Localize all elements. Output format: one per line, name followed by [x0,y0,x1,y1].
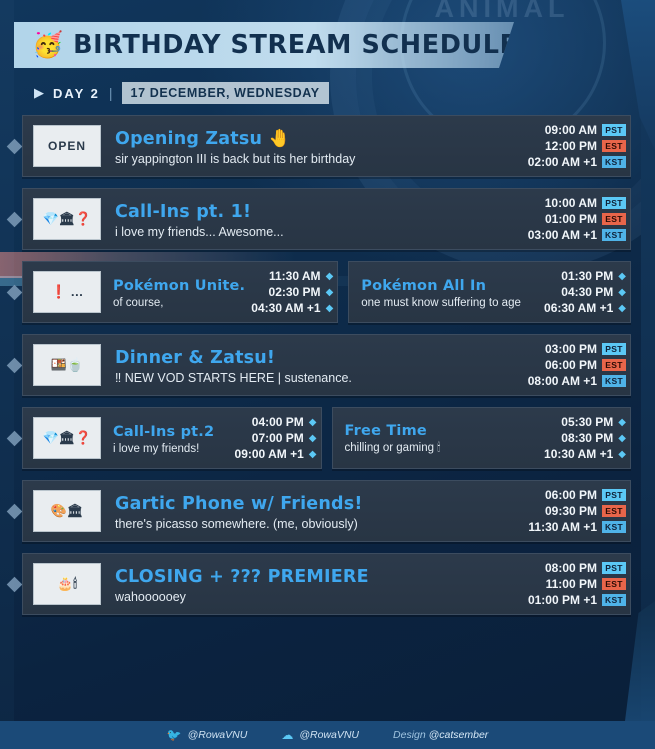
schedule-row-split: 💎🏛❓ Call-Ins pt.2 i love my friends! 04:… [0,407,655,469]
timezone-badge-pst: PST [602,124,626,136]
schedule-item[interactable]: 🎨🏛 Gartic Phone w/ Friends! there's pica… [22,480,631,542]
diamond-bullet-icon: ◆ [618,287,626,298]
time-row: 11:00 PM EST [528,577,626,591]
time-value: 04:30 AM +1 [251,301,320,315]
schedule-item[interactable]: Pokémon All In one must know suffering t… [348,261,631,323]
time-row: 04:30 PM ◆ [544,285,626,299]
timezone-badge-kst: KST [602,375,626,387]
time-row: 01:30 PM ◆ [544,269,626,283]
twitter-icon: 🐦 [167,728,182,742]
thumbnail: 🍱🍵 [33,344,101,386]
item-text: Opening Zatsu 🤚 sir yappington III is ba… [101,116,528,176]
schedule-row: 🍱🍵 Dinner & Zatsu! ‼ NEW VOD STARTS HERE… [0,334,655,396]
item-title: Pokémon All In [361,278,538,294]
item-text: Pokémon Unite. of course, [101,262,251,322]
item-subtitle: i love my friends... Awesome... [115,225,522,239]
time-value: 09:30 PM [545,504,597,518]
schedule-row: 🎂🕯 CLOSING + ??? PREMIERE wahoooooey 08:… [0,553,655,615]
item-title: Dinner & Zatsu! [115,348,522,368]
date-badge: 17 DECEMBER, WEDNESDAY [122,82,329,104]
schedule-header-banner: 🥳 BIRTHDAY STREAM SCHEDULE [14,22,514,68]
item-subtitle: wahoooooey [115,590,522,604]
item-title: Free Time [345,423,539,439]
time-value: 09:00 AM +1 [235,447,304,461]
design-credit[interactable]: Design @catsember [393,729,488,741]
time-list: 01:30 PM ◆ 04:30 PM ◆ 06:30 AM +1 ◆ [544,262,630,322]
item-subtitle: of course, [113,297,245,309]
twitter-handle[interactable]: 🐦 @RowaVNU [167,728,248,742]
thumbnail-emoji: 🎨🏛 [51,503,84,519]
time-value: 01:30 PM [561,269,613,283]
time-row: 02:00 AM +1 KST [528,155,626,169]
time-row: 08:00 PM PST [528,561,626,575]
time-value: 08:30 PM [561,431,613,445]
thumbnail: 💎🏛❓ [33,417,101,459]
time-row: 11:30 AM +1 KST [528,520,626,534]
timezone-badge-est: EST [602,213,626,225]
diamond-bullet-icon: ◆ [326,303,334,314]
time-value: 09:00 AM [545,123,597,137]
twitter-handle-text: @RowaVNU [188,729,248,741]
day-label: DAY 2 [53,86,100,101]
schedule-item[interactable]: Free Time chilling or gaming 🕯 05:30 PM … [332,407,632,469]
time-list: 04:00 PM ◆ 07:00 PM ◆ 09:00 AM +1 ◆ [235,408,321,468]
time-row: 06:00 PM PST [528,488,626,502]
design-handle: @catsember [429,729,489,741]
time-row: 02:30 PM ◆ [251,285,333,299]
time-value: 07:00 PM [252,431,304,445]
bluesky-icon: ☁ [281,728,293,742]
item-title: Call-Ins pt.2 [113,424,229,440]
timezone-badge-est: EST [602,505,626,517]
time-value: 01:00 PM [545,212,597,226]
schedule-row: 💎🏛❓ Call-Ins pt. 1! i love my friends...… [0,188,655,250]
item-title: Opening Zatsu 🤚 [115,129,522,149]
time-row: 10:00 AM PST [528,196,626,210]
thumbnail-emoji: 🎂🕯 [57,576,77,592]
split-container: 💎🏛❓ Call-Ins pt.2 i love my friends! 04:… [0,407,631,469]
time-value: 05:30 PM [561,415,613,429]
item-text: Gartic Phone w/ Friends! there's picasso… [101,481,528,541]
time-list: 03:00 PM PST 06:00 PM EST 08:00 AM +1 KS… [528,335,630,395]
timezone-badge-kst: KST [602,156,626,168]
time-row: 01:00 PM +1 KST [528,593,626,607]
timezone-badge-kst: KST [602,521,626,533]
thumbnail-emoji: 💎🏛❓ [43,430,92,446]
page-title: BIRTHDAY STREAM SCHEDULE [73,30,518,60]
schedule-item[interactable]: ❗ … Pokémon Unite. of course, 11:30 AM ◆… [22,261,338,323]
timezone-badge-est: EST [602,578,626,590]
schedule-rows: OPEN Opening Zatsu 🤚 sir yappington III … [0,115,655,626]
item-subtitle: one must know suffering to age [361,297,538,309]
timezone-badge-kst: KST [602,229,626,241]
item-title: Pokémon Unite. [113,278,245,294]
thumbnail: OPEN [33,125,101,167]
diamond-bullet-icon: ◆ [309,449,317,460]
time-value: 11:30 AM +1 [528,520,597,534]
item-subtitle: there's picasso somewhere. (me, obviousl… [115,517,522,531]
time-row: 04:30 AM +1 ◆ [251,301,333,315]
time-value: 08:00 AM +1 [528,374,597,388]
play-triangle-icon: ▶ [34,85,44,101]
time-row: 01:00 PM EST [528,212,626,226]
split-container: ❗ … Pokémon Unite. of course, 11:30 AM ◆… [0,261,631,323]
diamond-bullet-icon: ◆ [618,271,626,282]
diamond-marker-icon [7,139,23,155]
time-row: 09:00 AM +1 ◆ [235,447,317,461]
diamond-marker-icon [7,504,23,520]
time-row: 11:30 AM ◆ [251,269,333,283]
diamond-bullet-icon: ◆ [326,287,334,298]
schedule-item[interactable]: 💎🏛❓ Call-Ins pt.2 i love my friends! 04:… [22,407,322,469]
item-subtitle: i love my friends! [113,443,229,455]
timezone-badge-pst: PST [602,489,626,501]
diamond-bullet-icon: ◆ [618,417,626,428]
schedule-item[interactable]: 💎🏛❓ Call-Ins pt. 1! i love my friends...… [22,188,631,250]
diamond-bullet-icon: ◆ [309,417,317,428]
time-row: 03:00 AM +1 KST [528,228,626,242]
time-list: 09:00 AM PST 12:00 PM EST 02:00 AM +1 KS… [528,116,630,176]
time-value: 02:00 AM +1 [528,155,597,169]
time-row: 06:30 AM +1 ◆ [544,301,626,315]
time-row: 08:00 AM +1 KST [528,374,626,388]
thumbnail: 🎨🏛 [33,490,101,532]
item-title: Call-Ins pt. 1! [115,202,522,222]
schedule-item[interactable]: OPEN Opening Zatsu 🤚 sir yappington III … [22,115,631,177]
time-row: 07:00 PM ◆ [235,431,317,445]
divider: | [109,85,113,101]
time-row: 06:00 PM EST [528,358,626,372]
time-value: 11:00 PM [546,577,597,591]
item-title: CLOSING + ??? PREMIERE [115,567,522,587]
thumbnail-emoji: 💎🏛❓ [43,211,92,227]
design-label: Design [393,729,426,741]
time-row: 04:00 PM ◆ [235,415,317,429]
timezone-badge-est: EST [602,140,626,152]
item-text: Dinner & Zatsu! ‼ NEW VOD STARTS HERE | … [101,335,528,395]
time-list: 05:30 PM ◆ 08:30 PM ◆ 10:30 AM +1 ◆ [544,408,630,468]
time-value: 11:30 AM [269,269,321,283]
time-row: 03:00 PM PST [528,342,626,356]
bluesky-handle-text: @RowaVNU [299,729,359,741]
timezone-badge-pst: PST [602,343,626,355]
thumbnail: ❗ … [33,271,101,313]
time-value: 06:30 AM +1 [544,301,613,315]
time-row: 09:30 PM EST [528,504,626,518]
item-subtitle: sir yappington III is back but its her b… [115,152,522,166]
party-face-emoji: 🥳 [32,33,63,58]
thumbnail: 🎂🕯 [33,563,101,605]
time-row: 09:00 AM PST [528,123,626,137]
schedule-row: OPEN Opening Zatsu 🤚 sir yappington III … [0,115,655,177]
timezone-badge-pst: PST [602,197,626,209]
schedule-row: 🎨🏛 Gartic Phone w/ Friends! there's pica… [0,480,655,542]
time-list: 08:00 PM PST 11:00 PM EST 01:00 PM +1 KS… [528,554,630,614]
diamond-marker-icon [7,358,23,374]
item-subtitle: chilling or gaming 🕯 [345,442,539,455]
item-text: Pokémon All In one must know suffering t… [349,262,544,322]
diamond-bullet-icon: ◆ [309,433,317,444]
diamond-bullet-icon: ◆ [618,433,626,444]
day-bar: ▶ DAY 2 | 17 DECEMBER, WEDNESDAY [34,82,329,104]
thumbnail-emoji: ❗ … [51,284,84,300]
time-value: 04:30 PM [561,285,613,299]
schedule-item[interactable]: 🍱🍵 Dinner & Zatsu! ‼ NEW VOD STARTS HERE… [22,334,631,396]
diamond-bullet-icon: ◆ [618,449,626,460]
diamond-marker-icon [7,577,23,593]
diamond-bullet-icon: ◆ [618,303,626,314]
time-value: 08:00 PM [545,561,597,575]
time-value: 01:00 PM +1 [528,593,597,607]
thumbnail-emoji: 🍱🍵 [51,357,83,373]
time-value: 02:30 PM [269,285,321,299]
time-value: 10:30 AM +1 [544,447,613,461]
timezone-badge-est: EST [602,359,626,371]
schedule-row-split: ❗ … Pokémon Unite. of course, 11:30 AM ◆… [0,261,655,323]
timezone-badge-kst: KST [602,594,626,606]
item-text: Call-Ins pt.2 i love my friends! [101,408,235,468]
time-value: 06:00 PM [545,488,597,502]
time-row: 12:00 PM EST [528,139,626,153]
time-value: 03:00 AM +1 [528,228,597,242]
time-value: 06:00 PM [545,358,597,372]
schedule-item[interactable]: 🎂🕯 CLOSING + ??? PREMIERE wahoooooey 08:… [22,553,631,615]
item-text: CLOSING + ??? PREMIERE wahoooooey [101,554,528,614]
item-title: Gartic Phone w/ Friends! [115,494,522,514]
diamond-marker-icon [7,212,23,228]
time-row: 05:30 PM ◆ [544,415,626,429]
time-list: 10:00 AM PST 01:00 PM EST 03:00 AM +1 KS… [528,189,630,249]
item-text: Free Time chilling or gaming 🕯 [333,408,545,468]
time-list: 06:00 PM PST 09:30 PM EST 11:30 AM +1 KS… [528,481,630,541]
item-subtitle: ‼ NEW VOD STARTS HERE | sustenance. [115,371,522,385]
item-text: Call-Ins pt. 1! i love my friends... Awe… [101,189,528,249]
time-row: 08:30 PM ◆ [544,431,626,445]
diamond-bullet-icon: ◆ [326,271,334,282]
bluesky-handle[interactable]: ☁ @RowaVNU [281,728,359,742]
time-value: 10:00 AM [545,196,597,210]
time-row: 10:30 AM +1 ◆ [544,447,626,461]
timezone-badge-pst: PST [602,562,626,574]
time-value: 03:00 PM [545,342,597,356]
footer: 🐦 @RowaVNU ☁ @RowaVNU Design @catsember [0,721,655,749]
thumbnail: 💎🏛❓ [33,198,101,240]
time-value: 12:00 PM [545,139,597,153]
time-value: 04:00 PM [252,415,304,429]
time-list: 11:30 AM ◆ 02:30 PM ◆ 04:30 AM +1 ◆ [251,262,337,322]
